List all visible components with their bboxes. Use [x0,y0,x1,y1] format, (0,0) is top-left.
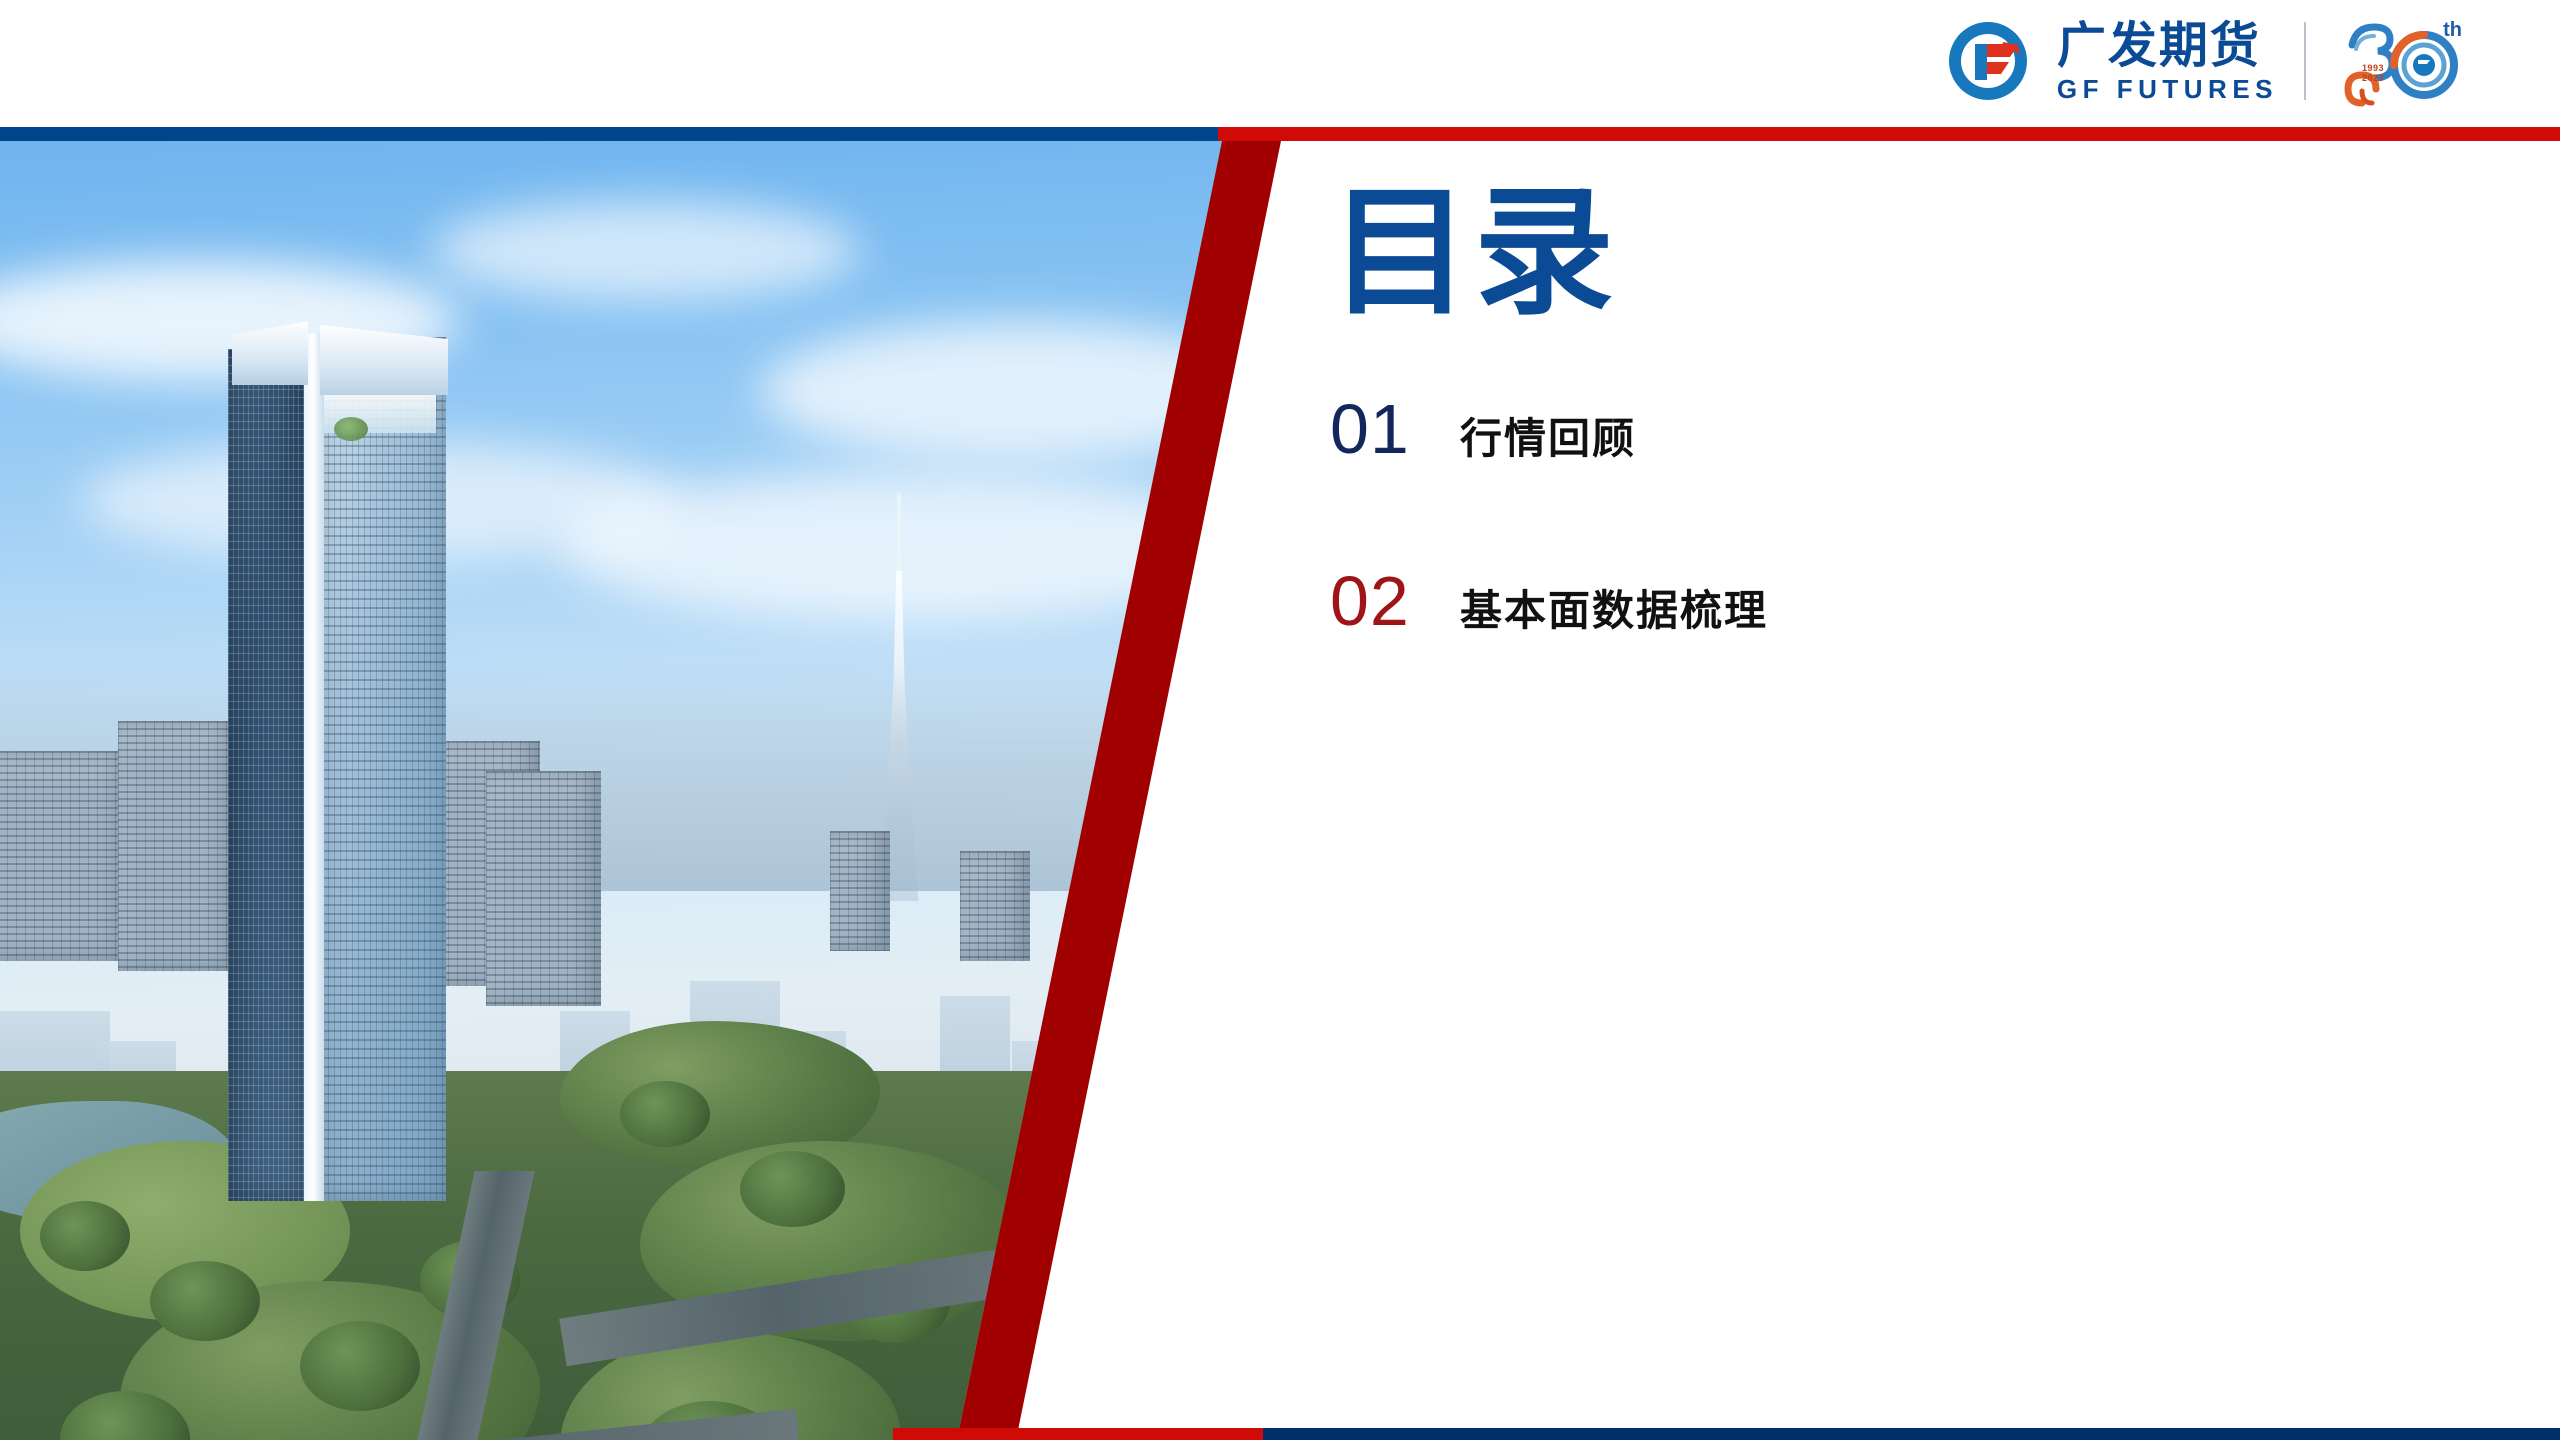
tower-corner-spine [304,333,324,1201]
slide-content: 目录 01 行情回顾 02 基本面数据梳理 [1330,180,2460,733]
toc-item-02[interactable]: 02 基本面数据梳理 [1330,561,2460,641]
slide-root: 广发期货 GF FUTURES th 1993 [0,0,2560,1440]
cloud [430,201,860,301]
tower-face-right [322,337,446,1201]
anniversary-year-to: 2023 [2362,73,2384,83]
anniversary-year-from: 1993 [2362,63,2384,73]
top-accent-bar-red [1218,127,2560,141]
anniversary-30th-icon: th 1993 2023 [2332,15,2464,107]
bottom-accent-bar-blue [1263,1428,2560,1440]
bottom-accent-bar-red [893,1428,1263,1440]
gf-headquarters-tower [228,321,448,1201]
logo-divider [2304,22,2306,100]
tower-crown-right [320,325,448,395]
tower-crown-left [232,321,308,385]
toc-number: 02 [1330,561,1460,641]
toc-label: 基本面数据梳理 [1460,577,1768,638]
toc-number: 01 [1330,389,1460,469]
toc-item-01[interactable]: 01 行情回顾 [1330,389,2460,469]
tower-face-left [228,349,306,1201]
table-of-contents: 01 行情回顾 02 基本面数据梳理 [1330,389,2460,641]
page-title: 目录 [1330,180,2460,327]
gf-logo-mark-icon [1945,18,2031,104]
toc-label: 行情回顾 [1460,405,1636,466]
tower-greenery [334,417,368,441]
brand-name-en: GF FUTURES [2057,76,2278,102]
brand-name-cn: 广发期货 [2057,21,2278,70]
brand-text: 广发期货 GF FUTURES [2057,21,2278,102]
anniversary-suffix: th [2443,19,2462,42]
top-accent-bar-blue [0,127,1218,141]
brand-logo: 广发期货 GF FUTURES th 1993 [1945,6,2464,116]
anniversary-years: 1993 2023 [2362,63,2384,84]
canton-tower-spire [897,493,901,577]
cloud [560,471,1225,621]
